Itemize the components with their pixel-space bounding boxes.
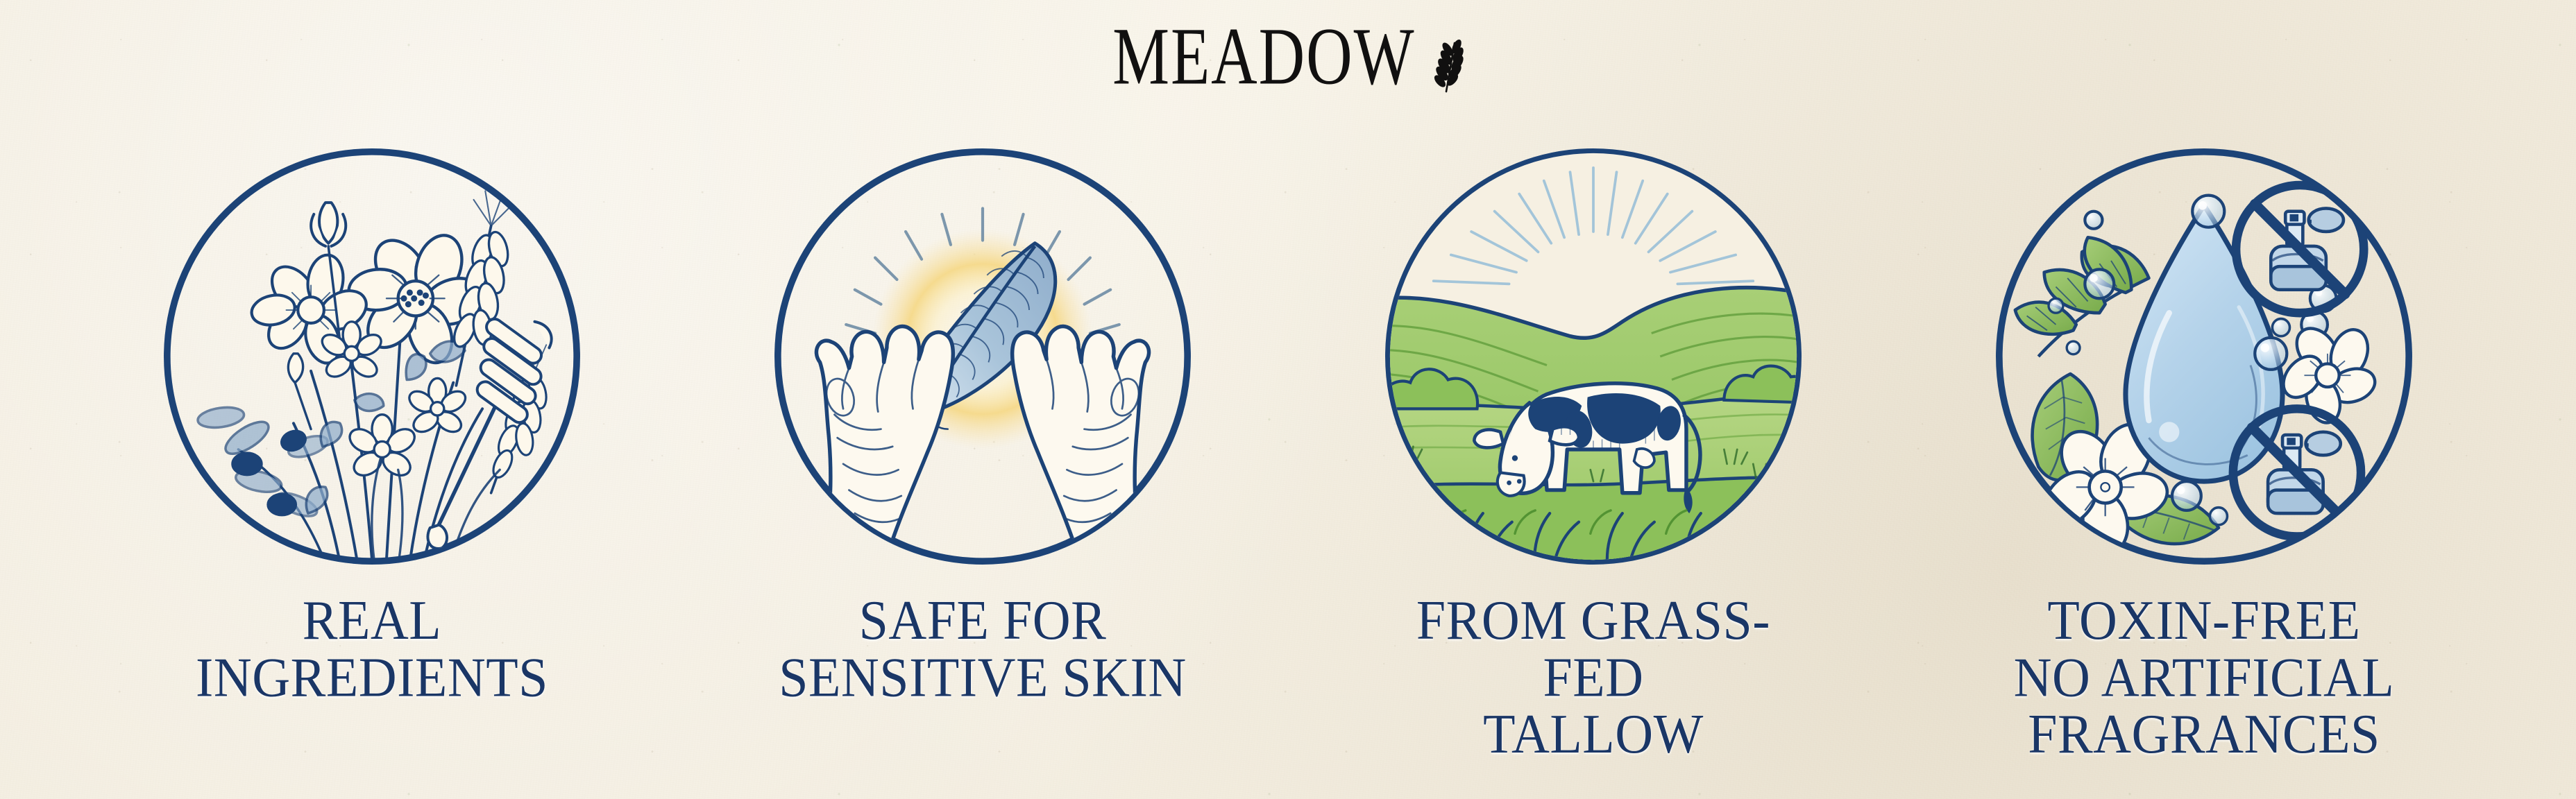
badge-row: REAL INGREDIENTS — [0, 139, 2576, 754]
medallion-from-grass-fed-tallow — [1375, 139, 1811, 574]
badge-caption: REAL INGREDIENTS — [196, 592, 548, 706]
brand-wordmark: MEADOW — [1112, 16, 1415, 97]
badge-from-grass-fed-tallow[interactable]: FROM GRASS-FED TALLOW — [1371, 139, 1815, 754]
badge-caption: TOXIN-FREE NO ARTIFICIAL FRAGRANCES — [2014, 592, 2395, 763]
grazing-cow-pasture-icon — [1375, 139, 1811, 574]
badge-caption: FROM GRASS-FED TALLOW — [1371, 592, 1815, 763]
badge-caption: SAFE FOR SENSITIVE SKIN — [779, 592, 1187, 706]
botanical-bouquet-icon — [154, 139, 590, 574]
badge-safe-for-sensitive-skin[interactable]: SAFE FOR SENSITIVE SKIN — [761, 139, 1205, 700]
badge-toxin-free-no-artificial-fragrances[interactable]: TOXIN-FREE NO ARTIFICIAL FRAGRANCES — [1982, 139, 2426, 754]
trust-badge-banner: MEADOW — [0, 0, 2576, 799]
no-perfume-sign-lower — [2233, 409, 2361, 536]
leaf-sprig-icon — [1425, 33, 1470, 93]
badge-real-ingredients[interactable]: REAL INGREDIENTS — [150, 139, 594, 700]
medallion-real-ingredients — [154, 139, 590, 574]
water-drop-no-fragrance-icon — [1986, 139, 2422, 574]
medallion-toxin-free — [1986, 139, 2422, 574]
brand-logo: MEADOW — [0, 31, 2576, 97]
hands-holding-feather-icon — [765, 139, 1201, 574]
medallion-safe-for-sensitive-skin — [765, 139, 1201, 574]
